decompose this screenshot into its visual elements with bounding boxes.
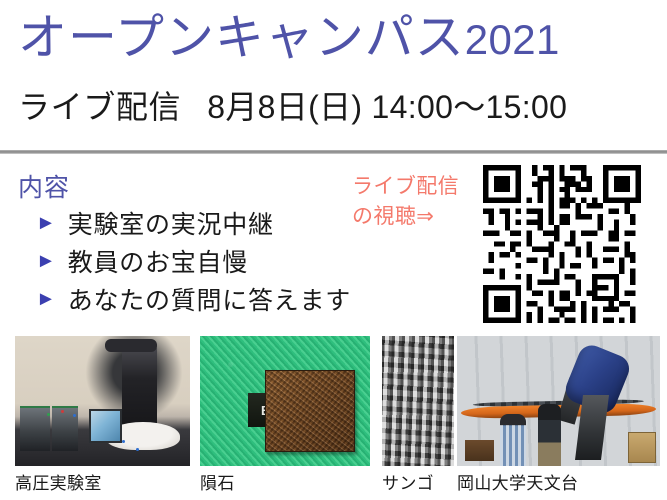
page-title: オープンキャンパス2021	[18, 14, 560, 63]
poster-root: オープンキャンパス2021 ライブ配信8月8日(日) 14:00〜15:00 内…	[0, 0, 667, 500]
triangle-bullet-icon: ►	[36, 289, 56, 309]
photo-high-pressure-lab	[15, 336, 190, 466]
content-heading: 内容	[18, 168, 70, 204]
lab-instrument-b-shape	[52, 406, 78, 451]
triangle-bullet-icon: ►	[36, 213, 56, 233]
photo-cell-observatory: 岡山大学天文台	[457, 336, 660, 494]
observatory-person-front-shape	[500, 414, 526, 466]
poster-header: オープンキャンパス2021 ライブ配信8月8日(日) 14:00〜15:00	[0, 0, 667, 152]
lab-monitor-shape	[89, 409, 123, 443]
subtitle: ライブ配信8月8日(日) 14:00〜15:00	[18, 90, 567, 125]
title-year-text: 2021	[465, 16, 560, 63]
list-item: ► 教員のお宝自慢	[30, 242, 351, 280]
content-bullet-list: ► 実験室の実況中継 ► 教員のお宝自慢 ► あなたの質問に答えます	[30, 204, 351, 318]
lab-speck	[136, 448, 139, 451]
triangle-bullet-icon: ►	[36, 251, 56, 271]
lab-speck	[73, 414, 76, 417]
photo-caption: 岡山大学天文台	[457, 469, 660, 494]
list-item-label: 実験室の実況中継	[68, 205, 274, 241]
lab-speck	[47, 413, 50, 416]
photo-caption: 高圧実験室	[15, 469, 190, 494]
observatory-crate-shape	[465, 440, 493, 461]
list-item: ► あなたの質問に答えます	[30, 280, 351, 318]
list-item-label: 教員のお宝自慢	[68, 243, 248, 279]
photo-cell-meteorite: B. 隕石	[200, 336, 370, 494]
title-main-text: オープンキャンパス	[18, 11, 465, 65]
microscope-column-shape	[122, 346, 157, 427]
photo-strip: 高圧実験室 B. 隕石 サンゴ 岡山大学天文台	[0, 336, 667, 500]
double-arrow-right-icon: ⇒	[416, 205, 434, 228]
subtitle-label: ライブ配信	[18, 89, 181, 125]
photo-caption: 隕石	[200, 469, 370, 494]
observatory-box-shape	[628, 432, 656, 463]
photo-observatory	[457, 336, 660, 466]
qr-callout-line1: ライブ配信	[352, 172, 459, 202]
photo-cell-coral: サンゴ	[382, 336, 454, 494]
qr-callout-line2-text: の視聴	[352, 205, 416, 228]
qr-callout-text: ライブ配信 の視聴⇒	[352, 172, 459, 233]
photo-caption: サンゴ	[382, 469, 454, 494]
qr-code[interactable]	[483, 164, 641, 324]
list-item-label: あなたの質問に答えます	[68, 281, 351, 317]
photo-coral	[382, 336, 454, 466]
lab-speck	[61, 410, 64, 413]
observatory-person-back-shape	[538, 404, 560, 466]
qr-callout-line2: の視聴⇒	[352, 202, 459, 232]
subtitle-date: 8月8日(日) 14:00〜15:00	[207, 89, 567, 125]
lab-speck	[122, 440, 125, 443]
photo-meteorite: B.	[200, 336, 370, 466]
photo-cell-high-pressure-lab: 高圧実験室	[15, 336, 190, 494]
lab-instrument-a-shape	[20, 406, 50, 451]
meteorite-slab-shape	[265, 370, 355, 453]
list-item: ► 実験室の実況中継	[30, 204, 351, 242]
